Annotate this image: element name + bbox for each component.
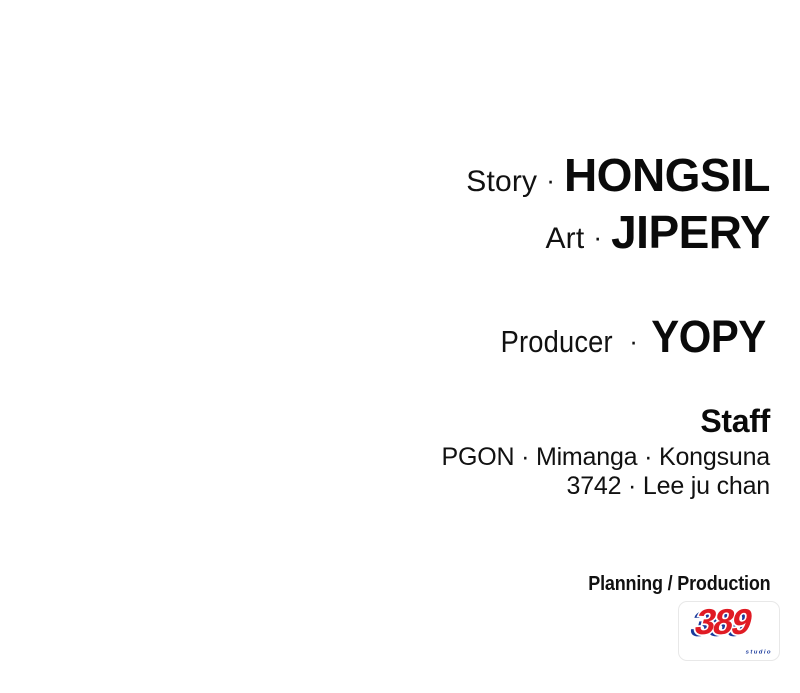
credit-separator-icon: · [593,224,602,250]
studio-logo-wordmark: studio [746,650,772,655]
credit-line-producer: Producer · YOPY [493,314,770,359]
staff-block: Staff PGON · Mimanga · Kongsuna 3742 · L… [442,405,770,499]
credit-name-story: HONGSIL [564,152,770,198]
credits-page: Story · HONGSIL Art · JIPERY Producer · … [0,0,800,693]
staff-heading: Staff [442,405,770,437]
studio-logo-389-icon: 389 389 389 [679,602,779,646]
credit-line-art: Art · JIPERY [545,209,770,255]
credit-line-story: Story · HONGSIL [466,152,770,198]
planning-production-label: Planning / Production [588,573,770,596]
credit-role-story: Story [466,167,537,197]
svg-text:389: 389 [691,602,756,642]
credit-role-art: Art [545,224,584,254]
staff-row: 3742 · Lee ju chan [442,474,770,499]
credit-separator-icon: · [546,167,555,193]
credit-name-producer: YOPY [651,314,765,359]
studio-logo: 389 389 389 studio [678,601,780,661]
credit-separator-icon: · [629,328,638,354]
credit-name-art: JIPERY [611,209,770,255]
credit-role-producer: Producer [501,326,613,357]
staff-row: PGON · Mimanga · Kongsuna [442,445,770,470]
